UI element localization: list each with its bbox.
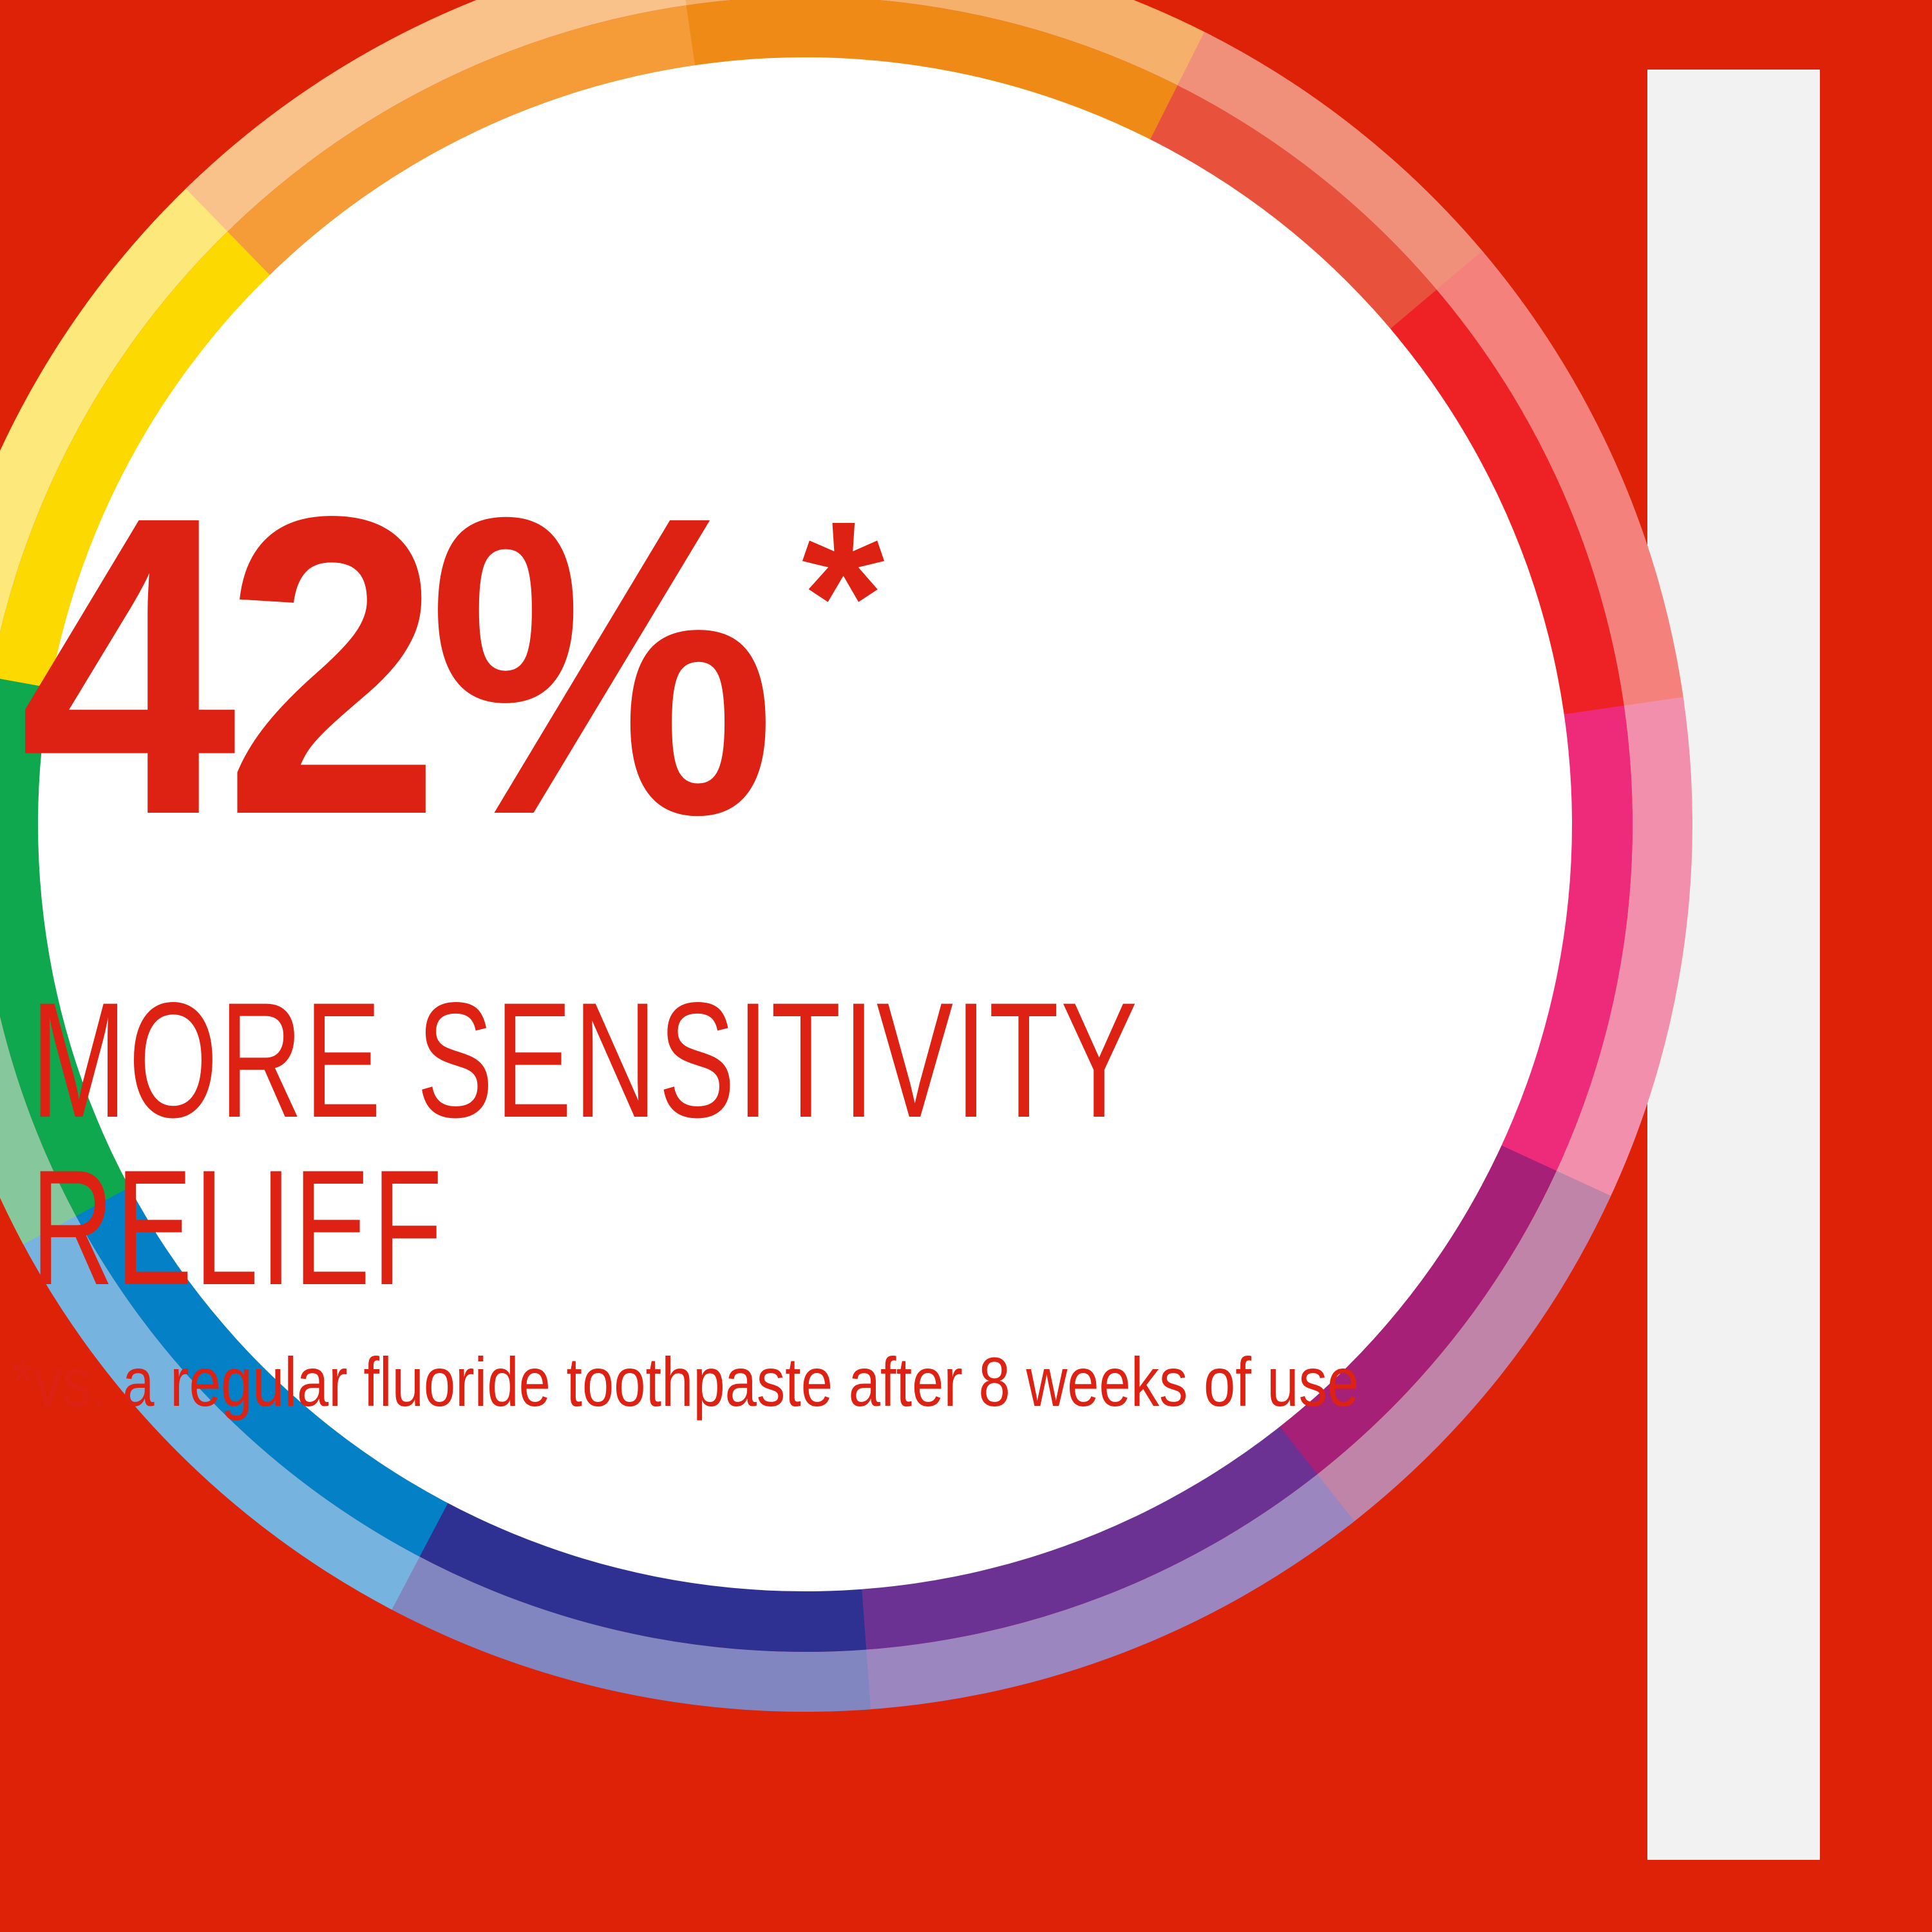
artboard [0,0,1932,1932]
ring-graphic [0,0,1932,1932]
infographic-canvas: 42% * MORE SENSITIVITY RELIEF *vs. a reg… [0,0,1932,1932]
white-disc [38,57,1572,1591]
